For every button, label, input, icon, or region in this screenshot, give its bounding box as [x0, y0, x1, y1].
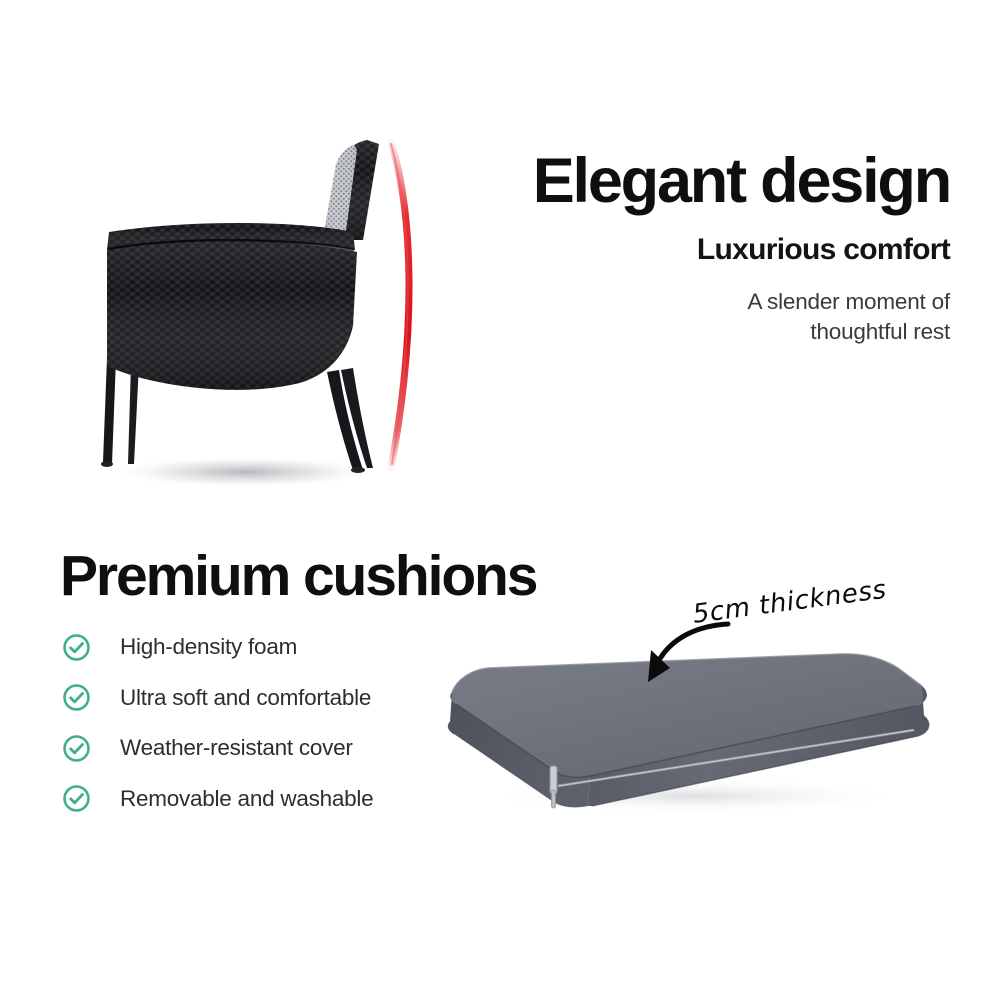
list-item: Ultra soft and comfortable	[62, 673, 373, 724]
check-circle-icon	[62, 784, 91, 813]
check-circle-icon	[62, 734, 91, 763]
feature-label: High-density foam	[120, 634, 297, 660]
list-item: Removable and washable	[62, 774, 373, 825]
page-title-premium-cushions: Premium cushions	[60, 548, 536, 605]
feature-label: Weather-resistant cover	[120, 735, 353, 761]
body-copy-line-1: A slender moment of	[560, 287, 950, 317]
feature-label: Removable and washable	[120, 786, 373, 812]
list-item: High-density foam	[62, 622, 373, 673]
body-copy-elegant-design: A slender moment of thoughtful rest	[560, 287, 950, 347]
chair-floor-shadow	[110, 456, 380, 488]
body-copy-line-2: thoughtful rest	[560, 317, 950, 347]
list-item: Weather-resistant cover	[62, 723, 373, 774]
curved-arrow-icon	[658, 624, 728, 662]
check-circle-icon	[62, 633, 91, 662]
feature-list: High-density foam Ultra soft and comfort…	[62, 622, 373, 824]
feature-label: Ultra soft and comfortable	[120, 685, 371, 711]
check-circle-icon	[62, 683, 91, 712]
subtitle-luxurious-comfort: Luxurious comfort	[500, 233, 950, 266]
curved-arrow-head-icon	[648, 650, 670, 682]
chair-illustration	[95, 120, 455, 500]
page-title-elegant-design: Elegant design	[500, 150, 950, 213]
product-feature-canvas: Elegant design Luxurious comfort A slend…	[0, 0, 1000, 1000]
